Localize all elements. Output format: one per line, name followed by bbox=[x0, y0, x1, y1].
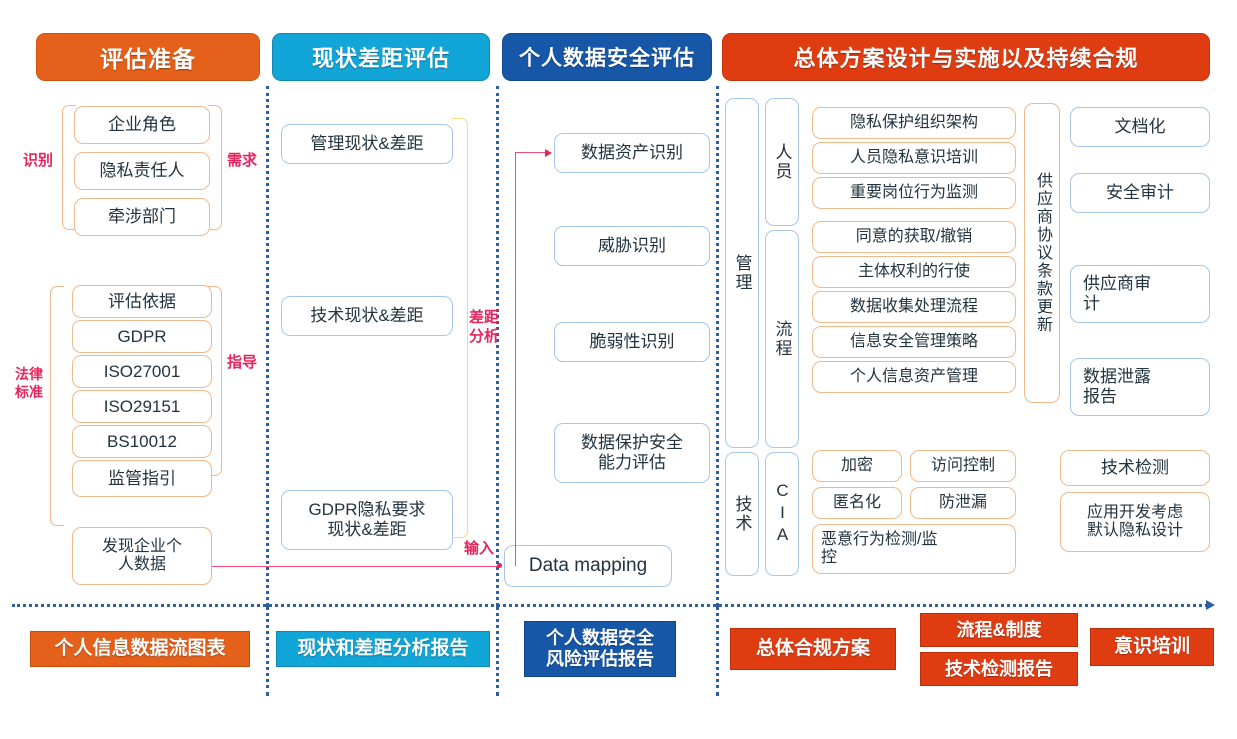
deliverable-overall-compliance-plan[interactable]: 总体合规方案 bbox=[730, 628, 896, 670]
node-vulnerability-identification[interactable]: 脆弱性识别 bbox=[554, 322, 710, 362]
node-privacy-by-default-design[interactable]: 应用开发考虑 默认隐私设计 bbox=[1060, 492, 1210, 552]
node-discover-line1: 发现企业个 bbox=[102, 538, 182, 556]
phase-header-1[interactable]: 评估准备 bbox=[36, 33, 260, 81]
node-privacy-design-line2: 默认隐私设计 bbox=[1087, 522, 1183, 540]
node-privacy-awareness-training[interactable]: 人员隐私意识培训 bbox=[812, 142, 1016, 174]
node-capability-line2: 能力评估 bbox=[598, 453, 666, 473]
deliverable-risk-assessment-report[interactable]: 个人数据安全 风险评估报告 bbox=[524, 621, 676, 677]
node-gdpr-gap-line2: 现状&差距 bbox=[327, 520, 406, 540]
diagram-canvas: 评估准备 现状差距评估 个人数据安全评估 总体方案设计与实施以及持续合规 识别 … bbox=[0, 0, 1237, 739]
annotation-guidance: 指导 bbox=[218, 355, 266, 371]
node-privacy-officer[interactable]: 隐私责任人 bbox=[74, 152, 210, 190]
node-security-audit[interactable]: 安全审计 bbox=[1070, 173, 1210, 213]
node-breach-report-line2: 报告 bbox=[1083, 387, 1117, 407]
node-documentation[interactable]: 文档化 bbox=[1070, 107, 1210, 147]
deliverable-technical-test-report[interactable]: 技术检测报告 bbox=[920, 652, 1078, 686]
annotation-requirement: 需求 bbox=[218, 153, 266, 169]
annotation-gap-line1: 差距 bbox=[464, 310, 504, 326]
node-access-control[interactable]: 访问控制 bbox=[910, 450, 1016, 482]
node-discover-personal-data[interactable]: 发现企业个 人数据 bbox=[72, 527, 212, 585]
node-regulatory-guidance[interactable]: 监管指引 bbox=[72, 460, 212, 497]
node-supplier-audit[interactable]: 供应商审 计 bbox=[1070, 265, 1210, 323]
node-data-breach-report[interactable]: 数据泄露 报告 bbox=[1070, 358, 1210, 416]
node-breach-report-line1: 数据泄露 bbox=[1083, 367, 1151, 387]
column-separator-2-lower bbox=[496, 606, 499, 696]
node-gdpr-privacy-status-gap[interactable]: GDPR隐私要求 现状&差距 bbox=[281, 490, 453, 550]
vertical-label-technology: 技术 bbox=[725, 452, 759, 576]
deliverable-process-and-system[interactable]: 流程&制度 bbox=[920, 613, 1078, 647]
annotation-legal-standard-line2: 标准 bbox=[6, 385, 52, 400]
annotation-input: 输入 bbox=[456, 541, 502, 557]
column-separator-3 bbox=[716, 86, 719, 606]
phase-header-3[interactable]: 个人数据安全评估 bbox=[502, 33, 712, 81]
node-malicious-behavior-detection[interactable]: 恶意行为检测/监 控 bbox=[812, 524, 1016, 574]
node-enterprise-role[interactable]: 企业角色 bbox=[74, 106, 210, 144]
vertical-label-people: 人员 bbox=[765, 98, 799, 226]
node-supplier-audit-line1: 供应商审 bbox=[1083, 274, 1151, 294]
node-gdpr[interactable]: GDPR bbox=[72, 320, 212, 353]
deliverable-data-flow-chart[interactable]: 个人信息数据流图表 bbox=[30, 631, 250, 667]
node-data-mapping[interactable]: Data mapping bbox=[504, 545, 672, 587]
vertical-label-cia: CIA bbox=[765, 452, 799, 576]
node-privacy-org-structure[interactable]: 隐私保护组织架构 bbox=[812, 107, 1016, 139]
node-consent-acquire-revoke[interactable]: 同意的获取/撤销 bbox=[812, 221, 1016, 253]
node-iso27001[interactable]: ISO27001 bbox=[72, 355, 212, 388]
node-privacy-design-line1: 应用开发考虑 bbox=[1087, 504, 1183, 522]
node-discover-line2: 人数据 bbox=[118, 556, 166, 574]
node-involved-departments[interactable]: 牵涉部门 bbox=[74, 198, 210, 236]
column-separator-3-lower bbox=[716, 606, 719, 696]
node-assessment-basis[interactable]: 评估依据 bbox=[72, 285, 212, 318]
annotation-gap-line2: 分析 bbox=[464, 329, 504, 345]
phase-header-4[interactable]: 总体方案设计与实施以及持续合规 bbox=[722, 33, 1210, 81]
vertical-label-process: 流程 bbox=[765, 230, 799, 448]
node-iso29151[interactable]: ISO29151 bbox=[72, 390, 212, 423]
node-malicious-line2: 控 bbox=[821, 549, 837, 567]
node-technical-testing[interactable]: 技术检测 bbox=[1060, 450, 1210, 486]
connector-arrow-data-asset bbox=[545, 149, 552, 157]
annotation-legal-standard-line1: 法律 bbox=[6, 367, 52, 382]
vertical-label-management: 管理 bbox=[725, 98, 759, 448]
node-malicious-line1: 恶意行为检测/监 bbox=[821, 531, 937, 549]
column-separator-2 bbox=[496, 86, 499, 606]
node-threat-identification[interactable]: 威胁识别 bbox=[554, 226, 710, 266]
deliverable-risk-line1: 个人数据安全 bbox=[546, 628, 654, 649]
column-separator-1-lower bbox=[266, 606, 269, 696]
node-management-status-gap[interactable]: 管理现状&差距 bbox=[281, 124, 453, 164]
node-supplier-audit-line2: 计 bbox=[1083, 294, 1100, 314]
timeline-arrow-icon bbox=[1206, 600, 1215, 610]
node-key-position-monitoring[interactable]: 重要岗位行为监测 bbox=[812, 177, 1016, 209]
node-data-asset-identification[interactable]: 数据资产识别 bbox=[554, 133, 710, 173]
node-bs10012[interactable]: BS10012 bbox=[72, 425, 212, 458]
node-data-protection-capability[interactable]: 数据保护安全 能力评估 bbox=[554, 423, 710, 483]
timeline-axis bbox=[12, 604, 1208, 607]
node-gdpr-gap-line1: GDPR隐私要求 bbox=[308, 500, 425, 520]
node-subject-rights-exercise[interactable]: 主体权利的行使 bbox=[812, 256, 1016, 288]
node-personal-info-asset-mgmt[interactable]: 个人信息资产管理 bbox=[812, 361, 1016, 393]
deliverable-gap-analysis-report[interactable]: 现状和差距分析报告 bbox=[276, 631, 490, 667]
connector-discovery-to-mapping bbox=[212, 566, 500, 567]
brace-gap-analysis bbox=[452, 118, 468, 538]
node-encryption[interactable]: 加密 bbox=[812, 450, 902, 482]
deliverable-risk-line2: 风险评估报告 bbox=[546, 649, 654, 670]
column-separator-1 bbox=[266, 86, 269, 606]
connector-junction-dot bbox=[497, 563, 502, 568]
node-capability-line1: 数据保护安全 bbox=[581, 433, 683, 453]
node-data-collection-process[interactable]: 数据收集处理流程 bbox=[812, 291, 1016, 323]
node-leak-prevention[interactable]: 防泄漏 bbox=[910, 487, 1016, 519]
connector-mapping-up bbox=[515, 153, 516, 566]
brace-legal-left bbox=[50, 286, 64, 526]
vertical-label-supplier-agreement: 供应商协议条款更新 bbox=[1024, 103, 1060, 403]
annotation-identify: 识别 bbox=[12, 153, 64, 169]
deliverable-awareness-training[interactable]: 意识培训 bbox=[1090, 628, 1214, 666]
node-anonymization[interactable]: 匿名化 bbox=[812, 487, 902, 519]
connector-to-data-asset bbox=[515, 152, 547, 153]
node-infosec-management-policy[interactable]: 信息安全管理策略 bbox=[812, 326, 1016, 358]
node-technology-status-gap[interactable]: 技术现状&差距 bbox=[281, 296, 453, 336]
phase-header-2[interactable]: 现状差距评估 bbox=[272, 33, 490, 81]
